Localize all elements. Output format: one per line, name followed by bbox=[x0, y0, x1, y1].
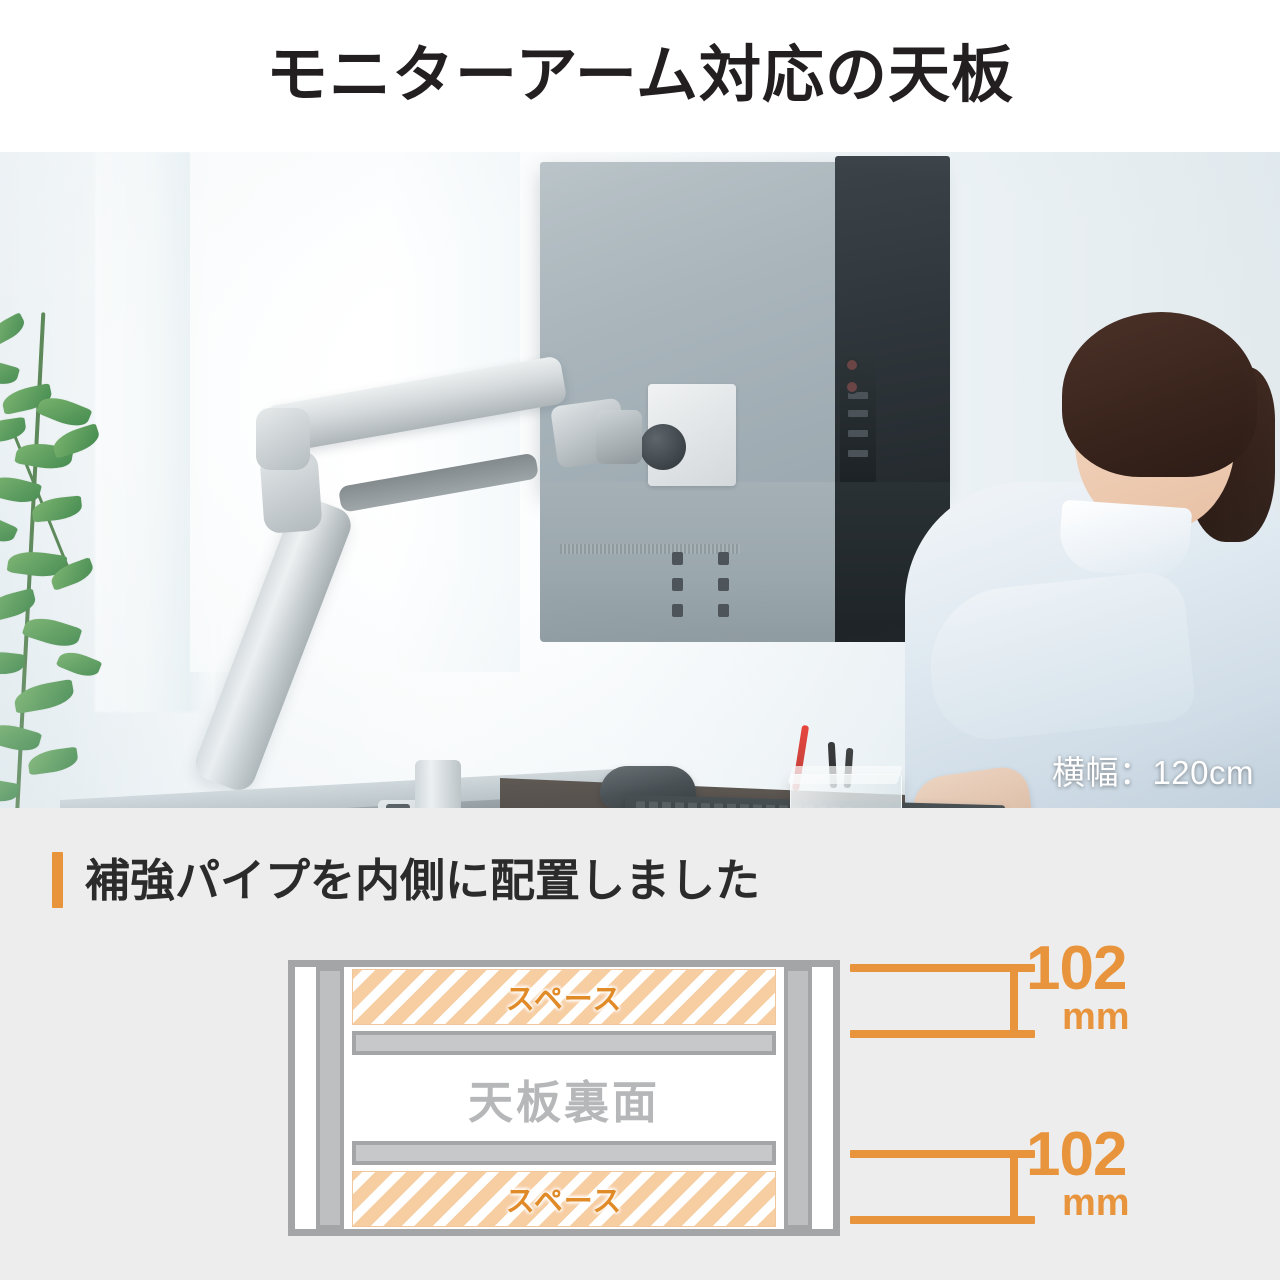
clearance-space-bottom-label: スペース bbox=[506, 1178, 623, 1220]
reinforcement-pipe-bottom bbox=[352, 1141, 776, 1165]
desktop-underside-label: 天板裏面 bbox=[468, 1066, 660, 1131]
dimension-callout-top: 102 mm bbox=[850, 954, 1180, 1050]
diagram-gap-right bbox=[812, 967, 833, 1229]
dimension-leader-line-lower bbox=[850, 1216, 1035, 1224]
monitor-vesa-holes bbox=[672, 552, 744, 618]
clearance-space-top-label: スペース bbox=[506, 976, 623, 1018]
reinforcement-diagram: スペース 天板裏面 スペース bbox=[288, 960, 840, 1236]
dimension-tick bbox=[1010, 1150, 1018, 1224]
monitor-arm-post bbox=[415, 760, 461, 808]
product-photo: 横幅：120cm bbox=[0, 152, 1280, 808]
monitor-port-panel bbox=[840, 352, 876, 482]
diagram-gap-left bbox=[295, 967, 316, 1229]
dimension-callout-bottom: 102 mm bbox=[850, 1140, 1180, 1236]
monitor-arm-joint bbox=[256, 408, 310, 470]
clearance-space-top: スペース bbox=[352, 969, 776, 1025]
reinforcement-pipe-right bbox=[784, 967, 812, 1229]
monitor-arm-hinge-inner bbox=[596, 410, 642, 464]
dimension-value: 102 bbox=[1026, 1124, 1126, 1186]
dimension-unit: mm bbox=[1062, 1184, 1130, 1222]
page-title: モニターアーム対応の天板 bbox=[266, 45, 1014, 107]
reinforcement-pipe-top bbox=[352, 1031, 776, 1055]
desktop-underside-panel: 天板裏面 bbox=[352, 1063, 776, 1133]
clearance-space-bottom: スペース bbox=[352, 1171, 776, 1227]
section-heading: 補強パイプを内側に配置しました bbox=[52, 852, 760, 908]
dimension-unit: mm bbox=[1062, 998, 1130, 1036]
feature-section: 補強パイプを内側に配置しました スペース 天板裏面 スペース bbox=[0, 808, 1280, 1280]
dimension-leader-line-upper bbox=[850, 964, 1035, 972]
dimension-leader-line-lower bbox=[850, 1030, 1035, 1038]
plant bbox=[0, 302, 170, 808]
dimension-tick bbox=[1010, 964, 1018, 1038]
width-label: 横幅：120cm bbox=[1052, 746, 1254, 794]
dimension-value: 102 bbox=[1026, 938, 1126, 1000]
pen-holder-rim bbox=[787, 766, 902, 784]
monitor-audio-jack-2 bbox=[845, 380, 859, 394]
title-band: モニターアーム対応の天板 bbox=[0, 0, 1280, 152]
monitor-audio-jack-1 bbox=[845, 358, 859, 372]
section-title: 補強パイプを内側に配置しました bbox=[85, 858, 760, 903]
accent-bar bbox=[52, 852, 63, 908]
person-hair bbox=[1062, 312, 1257, 477]
reinforcement-pipe-left bbox=[316, 967, 344, 1229]
dimension-leader-line-upper bbox=[850, 1150, 1035, 1158]
product-feature-page: モニターアーム対応の天板 bbox=[0, 0, 1280, 1280]
arm-tilt-knob bbox=[640, 424, 686, 470]
